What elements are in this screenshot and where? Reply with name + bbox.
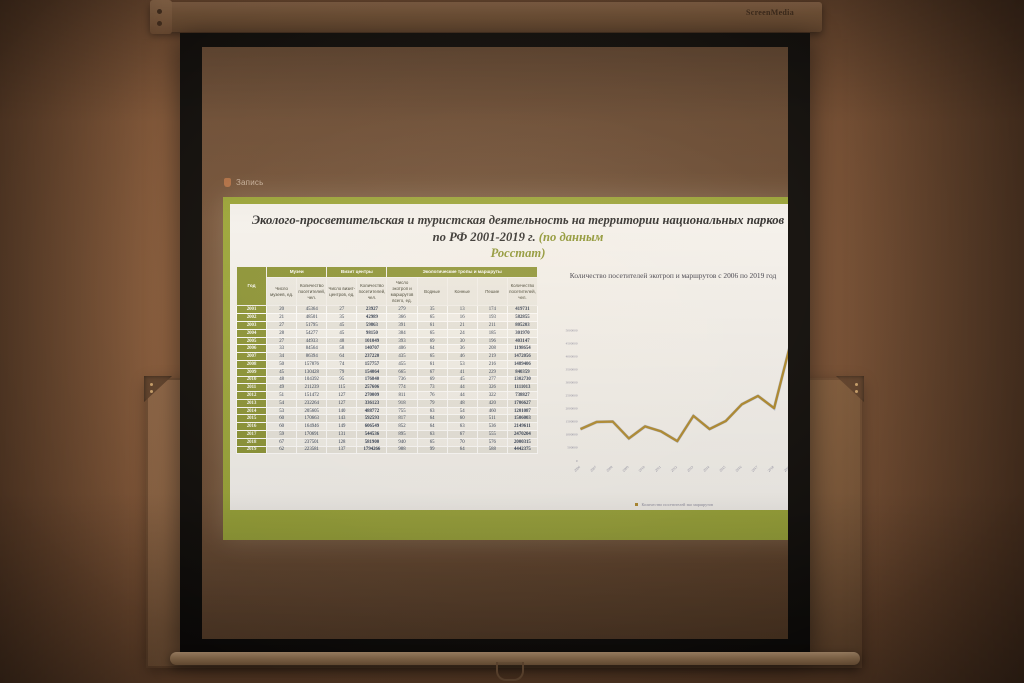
cell-eco-total: 736 xyxy=(387,376,417,384)
cell-museums: 27 xyxy=(267,322,297,330)
cell-museums: 21 xyxy=(267,314,297,322)
cell-foot: 229 xyxy=(477,368,507,376)
cell-museum-visitors: 104392 xyxy=(297,376,327,384)
y-axis-tick-label: 5000000 xyxy=(566,328,578,332)
table-row: 2004285427745981503846524185301970 xyxy=(237,329,538,337)
cell-eco-total: 817 xyxy=(387,415,417,423)
th-eco-horse: Конные xyxy=(447,277,477,306)
cell-museums: 50 xyxy=(267,360,297,368)
cell-museum-visitors: 54277 xyxy=(297,329,327,337)
cell-year: 2006 xyxy=(237,345,267,353)
cell-water: 64 xyxy=(417,423,447,431)
cell-water: 67 xyxy=(417,368,447,376)
cell-eco-total: 366 xyxy=(387,314,417,322)
cell-year: 2009 xyxy=(237,368,267,376)
cell-eco-total: 384 xyxy=(387,329,417,337)
cell-eco-visitors: 403147 xyxy=(507,337,537,345)
cell-museum-visitors: 170691 xyxy=(297,430,327,438)
cell-eco-visitors: 2000315 xyxy=(507,438,537,446)
cell-eco-total: 455 xyxy=(387,360,417,368)
cell-eco-total: 988 xyxy=(387,446,417,454)
cell-year: 2005 xyxy=(237,337,267,345)
cell-eco-visitors: 1489406 xyxy=(507,360,537,368)
cell-foot: 576 xyxy=(477,438,507,446)
cell-eco-total: 755 xyxy=(387,407,417,415)
cell-eco-visitors: 301970 xyxy=(507,329,537,337)
table-row: 20186723750112858190094065705762000315 xyxy=(237,438,538,446)
cell-horse: 70 xyxy=(447,438,477,446)
cell-foot: 219 xyxy=(477,353,507,361)
table-row: 200734863946423722043565462191472056 xyxy=(237,353,538,361)
cell-museums: 60 xyxy=(267,415,297,423)
cell-vc-visitors: 592593 xyxy=(357,415,387,423)
cell-foot: 185 xyxy=(477,329,507,337)
cell-museum-visitors: 44933 xyxy=(297,337,327,345)
cell-museum-visitors: 130428 xyxy=(297,368,327,376)
cell-museum-visitors: 211239 xyxy=(297,384,327,392)
cell-museum-visitors: 164946 xyxy=(297,423,327,431)
cell-eco-total: 852 xyxy=(387,423,417,431)
y-axis-tick-label: 0 xyxy=(576,459,578,463)
cell-museums: 48 xyxy=(267,376,297,384)
table-row: 20052744933481010493936930196403147 xyxy=(237,337,538,345)
screen-brand-label: ScreenMedia xyxy=(746,8,794,17)
cell-water: 99 xyxy=(417,446,447,454)
recording-label: Запись xyxy=(236,178,263,187)
x-axis-tick-label: 2010 xyxy=(638,465,646,473)
chart-plot-area: 0500000100000015000002000000250000030000… xyxy=(548,326,788,494)
cell-water: 35 xyxy=(417,306,447,314)
cell-horse: 21 xyxy=(447,322,477,330)
table-row: 20166016494614960654985264635362149611 xyxy=(237,423,538,431)
cell-year: 2002 xyxy=(237,314,267,322)
x-axis-tick-label: 2014 xyxy=(703,465,711,473)
cell-horse: 48 xyxy=(447,399,477,407)
cell-year: 2015 xyxy=(237,415,267,423)
cell-vc: 127 xyxy=(327,399,357,407)
cell-horse: 24 xyxy=(447,329,477,337)
x-axis-tick-label: 2013 xyxy=(686,465,694,473)
cell-vc-visitors: 154064 xyxy=(357,368,387,376)
cell-year: 2004 xyxy=(237,329,267,337)
cell-foot: 277 xyxy=(477,376,507,384)
cell-foot: 174 xyxy=(477,306,507,314)
cell-horse: 45 xyxy=(447,376,477,384)
cell-vc-visitors: 157757 xyxy=(357,360,387,368)
cell-museum-visitors: 51795 xyxy=(297,322,327,330)
cell-eco-total: 774 xyxy=(387,384,417,392)
x-axis-tick-label: 2017 xyxy=(751,465,759,473)
cell-water: 65 xyxy=(417,438,447,446)
cell-eco-total: 279 xyxy=(387,306,417,314)
projector-screen-pull-handle[interactable] xyxy=(496,662,524,681)
cell-eco-visitors: 840359 xyxy=(507,368,537,376)
cell-vc: 149 xyxy=(327,423,357,431)
table-row: 201962223581137179426698899645884442375 xyxy=(237,446,538,454)
cell-horse: 60 xyxy=(447,415,477,423)
cell-horse: 53 xyxy=(447,360,477,368)
table-sub-header-row: Число музеев, ед. Количество посетителей… xyxy=(237,277,538,306)
cell-water: 63 xyxy=(417,407,447,415)
cell-year: 2010 xyxy=(237,376,267,384)
table-row: 2008501578767415775745561532161489406 xyxy=(237,360,538,368)
x-axis-tick-label: 2009 xyxy=(622,465,630,473)
cell-vc-visitors: 140707 xyxy=(357,345,387,353)
cell-horse: 13 xyxy=(447,306,477,314)
x-axis-tick-label: 2018 xyxy=(767,465,775,473)
y-axis-tick-label: 3000000 xyxy=(566,380,578,384)
projector-screen-housing: ScreenMedia xyxy=(150,2,822,32)
cell-vc: 140 xyxy=(327,407,357,415)
projection-screen-frame: Запись Эколого-просветительская и турист… xyxy=(180,33,810,653)
cell-water: 69 xyxy=(417,337,447,345)
table-row: 20145320560514048877275563544601201087 xyxy=(237,407,538,415)
y-axis-tick-label: 500000 xyxy=(567,446,578,450)
record-icon xyxy=(224,178,231,187)
chart-legend: Количество посетителей эко маршрутов xyxy=(542,502,788,507)
cell-vc: 35 xyxy=(327,314,357,322)
cell-horse: 64 xyxy=(447,446,477,454)
cell-museum-visitors: 237501 xyxy=(297,438,327,446)
cell-eco-visitors: 582855 xyxy=(507,314,537,322)
cell-eco-visitors: 1198654 xyxy=(507,345,537,353)
cell-foot: 588 xyxy=(477,446,507,454)
table-row: 200633845645814070740664362081198654 xyxy=(237,345,538,353)
cell-museums: 34 xyxy=(267,353,297,361)
cell-museum-visitors: 45364 xyxy=(297,306,327,314)
whiteboard-bracket-right xyxy=(836,376,864,402)
cell-vc-visitors: 544536 xyxy=(357,430,387,438)
cell-eco-visitors: 2149611 xyxy=(507,423,537,431)
cell-eco-total: 665 xyxy=(387,368,417,376)
parks-statistics-table: Год Музеи Визит центры Экологические тро… xyxy=(236,266,538,454)
y-axis-tick-label: 1000000 xyxy=(566,433,578,437)
cell-eco-visitors: 1111013 xyxy=(507,384,537,392)
series-line-shadow xyxy=(580,345,788,442)
cell-museums: 49 xyxy=(267,384,297,392)
table-row: 20175917069113154453689563675552470204 xyxy=(237,430,538,438)
table-head: Год Музеи Визит центры Экологические тро… xyxy=(237,267,538,306)
cell-museums: 67 xyxy=(267,438,297,446)
chart-wrapper: Количество посетителей экотроп и маршрут… xyxy=(542,264,788,510)
cell-museums: 60 xyxy=(267,423,297,431)
projection-screen-surface: Запись Эколого-просветительская и турист… xyxy=(202,47,788,639)
cell-year: 2008 xyxy=(237,360,267,368)
slide-title: Эколого-просветительская и туристская де… xyxy=(230,204,788,264)
cell-horse: 63 xyxy=(447,423,477,431)
cell-year: 2016 xyxy=(237,423,267,431)
cell-eco-visitors: 738827 xyxy=(507,392,537,400)
cell-horse: 30 xyxy=(447,337,477,345)
table-body: 2001204536427239272793513174419731200221… xyxy=(237,306,538,454)
cell-year: 2001 xyxy=(237,306,267,314)
table-row: 200945130428791540646656741229840359 xyxy=(237,368,538,376)
whiteboard-bracket-left xyxy=(144,376,172,402)
table-row: 2001204536427239272793513174419731 xyxy=(237,306,538,314)
cell-museums: 33 xyxy=(267,345,297,353)
cell-museum-visitors: 223581 xyxy=(297,446,327,454)
cell-foot: 322 xyxy=(477,392,507,400)
slide-content-area: Эколого-просветительская и туристская де… xyxy=(230,204,788,510)
cell-museums: 27 xyxy=(267,337,297,345)
cell-horse: 44 xyxy=(447,384,477,392)
th-museum-visitors: Количество посетителей, чел. xyxy=(297,277,327,306)
cell-vc: 143 xyxy=(327,415,357,423)
cell-vc: 27 xyxy=(327,306,357,314)
y-axis-tick-label: 1500000 xyxy=(566,420,578,424)
table-row: 20156017066314359259381764605111506003 xyxy=(237,415,538,423)
cell-eco-total: 895 xyxy=(387,430,417,438)
cell-foot: 208 xyxy=(477,345,507,353)
cell-water: 79 xyxy=(417,399,447,407)
cell-year: 2003 xyxy=(237,322,267,330)
cell-year: 2007 xyxy=(237,353,267,361)
y-axis-tick-label: 4000000 xyxy=(566,354,578,358)
cell-vc: 64 xyxy=(327,353,357,361)
x-axis-tick-label: 2006 xyxy=(573,465,581,473)
cell-foot: 511 xyxy=(477,415,507,423)
cell-water: 73 xyxy=(417,384,447,392)
y-axis-tick-label: 2000000 xyxy=(566,407,578,411)
chart-title: Количество посетителей экотроп и маршрут… xyxy=(548,268,788,281)
th-group-year: Год xyxy=(237,267,267,306)
cell-vc: 58 xyxy=(327,345,357,353)
cell-museum-visitors: 151472 xyxy=(297,392,327,400)
cell-water: 64 xyxy=(417,415,447,423)
cell-foot: 193 xyxy=(477,314,507,322)
cell-foot: 196 xyxy=(477,337,507,345)
th-eco-visitors: Количество посетителей, чел. xyxy=(507,277,537,306)
x-axis-tick-label: 2015 xyxy=(719,465,727,473)
table-row: 2012511514721272700098117644322738827 xyxy=(237,392,538,400)
slide-body: Год Музеи Визит центры Экологические тро… xyxy=(230,264,788,510)
cell-museum-visitors: 205605 xyxy=(297,407,327,415)
cell-foot: 420 xyxy=(477,399,507,407)
cell-horse: 46 xyxy=(447,353,477,361)
y-axis-tick-label: 4500000 xyxy=(566,341,578,345)
cell-vc-visitors: 488772 xyxy=(357,407,387,415)
cell-vc-visitors: 336123 xyxy=(357,399,387,407)
cell-vc-visitors: 606549 xyxy=(357,423,387,431)
cell-eco-visitors: 1201087 xyxy=(507,407,537,415)
slide-title-line1: Эколого-просветительская и туристская де… xyxy=(252,213,585,227)
cell-vc: 74 xyxy=(327,360,357,368)
cell-eco-visitors: 419731 xyxy=(507,306,537,314)
cell-vc: 131 xyxy=(327,430,357,438)
cell-horse: 41 xyxy=(447,368,477,376)
y-axis-tick-label: 2500000 xyxy=(566,394,578,398)
table-row: 2002214850135429893666516193582855 xyxy=(237,314,538,322)
cell-year: 2012 xyxy=(237,392,267,400)
cell-museum-visitors: 84564 xyxy=(297,345,327,353)
cell-year: 2017 xyxy=(237,430,267,438)
cell-vc-visitors: 176840 xyxy=(357,376,387,384)
x-axis-tick-label: 2008 xyxy=(606,465,614,473)
cell-year: 2019 xyxy=(237,446,267,454)
cell-museums: 59 xyxy=(267,430,297,438)
cell-museum-visitors: 170663 xyxy=(297,415,327,423)
cell-horse: 67 xyxy=(447,430,477,438)
cell-year: 2018 xyxy=(237,438,267,446)
table-group-header-row: Год Музеи Визит центры Экологические тро… xyxy=(237,267,538,278)
cell-museums: 45 xyxy=(267,368,297,376)
th-eco-water: Водные xyxy=(417,277,447,306)
cell-eco-visitors: 1506003 xyxy=(507,415,537,423)
line-chart-svg: 0500000100000015000002000000250000030000… xyxy=(548,326,788,494)
cell-vc: 45 xyxy=(327,322,357,330)
cell-museum-visitors: 232264 xyxy=(297,399,327,407)
x-axis-tick-label: 2016 xyxy=(735,465,743,473)
cell-museums: 62 xyxy=(267,446,297,454)
cell-eco-total: 811 xyxy=(387,392,417,400)
cell-museum-visitors: 86394 xyxy=(297,353,327,361)
cell-foot: 326 xyxy=(477,384,507,392)
th-group-eco-trails: Экологические тропы и маршруты xyxy=(387,267,538,278)
cell-vc-visitors: 101049 xyxy=(357,337,387,345)
cell-vc: 128 xyxy=(327,438,357,446)
recording-indicator: Запись xyxy=(224,178,263,187)
table-row: 2010481043929517684073669452771302730 xyxy=(237,376,538,384)
cell-water: 61 xyxy=(417,322,447,330)
data-table-wrapper: Год Музеи Визит центры Экологические тро… xyxy=(230,264,542,510)
cell-museums: 28 xyxy=(267,329,297,337)
cell-foot: 211 xyxy=(477,322,507,330)
cell-eco-visitors: 1706627 xyxy=(507,399,537,407)
cell-year: 2014 xyxy=(237,407,267,415)
x-axis-tick-label: 2011 xyxy=(654,465,662,473)
th-eco-total: Число экотроп и маршрутов всего, ед. xyxy=(387,277,417,306)
cell-foot: 460 xyxy=(477,407,507,415)
th-eco-foot: Пешие xyxy=(477,277,507,306)
table-row: 20114921123911525760677473443261111013 xyxy=(237,384,538,392)
cell-vc: 127 xyxy=(327,392,357,400)
cell-vc: 115 xyxy=(327,384,357,392)
cell-water: 69 xyxy=(417,376,447,384)
presentation-slide: Эколого-просветительская и туристская де… xyxy=(223,197,788,540)
cell-foot: 216 xyxy=(477,360,507,368)
cell-vc: 137 xyxy=(327,446,357,454)
cell-vc-visitors: 1794266 xyxy=(357,446,387,454)
cell-vc-visitors: 581900 xyxy=(357,438,387,446)
cell-water: 65 xyxy=(417,329,447,337)
cell-water: 65 xyxy=(417,353,447,361)
cell-vc-visitors: 257606 xyxy=(357,384,387,392)
cell-eco-total: 918 xyxy=(387,399,417,407)
x-axis-tick-label: 2007 xyxy=(590,465,598,473)
th-museum-count: Число музеев, ед. xyxy=(267,277,297,306)
cell-museum-visitors: 48501 xyxy=(297,314,327,322)
cell-eco-total: 406 xyxy=(387,345,417,353)
th-group-visit-centers: Визит центры xyxy=(327,267,387,278)
cell-vc: 95 xyxy=(327,376,357,384)
cell-museums: 53 xyxy=(267,407,297,415)
cell-vc-visitors: 23927 xyxy=(357,306,387,314)
cell-water: 76 xyxy=(417,392,447,400)
cell-vc: 79 xyxy=(327,368,357,376)
cell-horse: 54 xyxy=(447,407,477,415)
table-row: 2003275179545598633916121211805203 xyxy=(237,322,538,330)
cell-vc-visitors: 42989 xyxy=(357,314,387,322)
cell-vc: 45 xyxy=(327,329,357,337)
cell-year: 2013 xyxy=(237,399,267,407)
x-axis-tick-label: 2012 xyxy=(670,465,678,473)
th-vc-count: Число визит-центров, ед. xyxy=(327,277,357,306)
cell-water: 64 xyxy=(417,345,447,353)
th-vc-visitors: Количество посетителей, чел. xyxy=(357,277,387,306)
cell-museums: 20 xyxy=(267,306,297,314)
cell-water: 63 xyxy=(417,430,447,438)
cell-eco-visitors: 805203 xyxy=(507,322,537,330)
cell-vc-visitors: 98150 xyxy=(357,329,387,337)
cell-year: 2011 xyxy=(237,384,267,392)
screen-housing-end-cap xyxy=(150,0,172,34)
cell-eco-visitors: 4442375 xyxy=(507,446,537,454)
cell-eco-total: 393 xyxy=(387,337,417,345)
cell-eco-total: 391 xyxy=(387,322,417,330)
legend-label: Количество посетителей эко маршрутов xyxy=(641,502,713,507)
cell-vc-visitors: 270009 xyxy=(357,392,387,400)
cell-museums: 51 xyxy=(267,392,297,400)
cell-museum-visitors: 157876 xyxy=(297,360,327,368)
series-line xyxy=(580,345,788,442)
cell-horse: 16 xyxy=(447,314,477,322)
cell-foot: 555 xyxy=(477,430,507,438)
cell-eco-visitors: 1302730 xyxy=(507,376,537,384)
cell-water: 61 xyxy=(417,360,447,368)
cell-vc-visitors: 59863 xyxy=(357,322,387,330)
x-axis-tick-label: 2019 xyxy=(783,465,788,473)
cell-horse: 44 xyxy=(447,392,477,400)
slide-title-accent2: Росстат) xyxy=(491,246,546,260)
cell-horse: 36 xyxy=(447,345,477,353)
cell-vc: 48 xyxy=(327,337,357,345)
cell-museums: 54 xyxy=(267,399,297,407)
cell-eco-visitors: 2470204 xyxy=(507,430,537,438)
table-row: 20135423226412733612391879484201706627 xyxy=(237,399,538,407)
cell-water: 65 xyxy=(417,314,447,322)
legend-swatch-icon xyxy=(635,503,639,507)
cell-eco-total: 435 xyxy=(387,353,417,361)
slide-title-accent: (по данным xyxy=(539,230,604,244)
th-group-museums: Музеи xyxy=(267,267,327,278)
cell-vc-visitors: 237220 xyxy=(357,353,387,361)
cell-eco-visitors: 1472056 xyxy=(507,353,537,361)
cell-foot: 536 xyxy=(477,423,507,431)
y-axis-tick-label: 3500000 xyxy=(566,367,578,371)
cell-eco-total: 940 xyxy=(387,438,417,446)
